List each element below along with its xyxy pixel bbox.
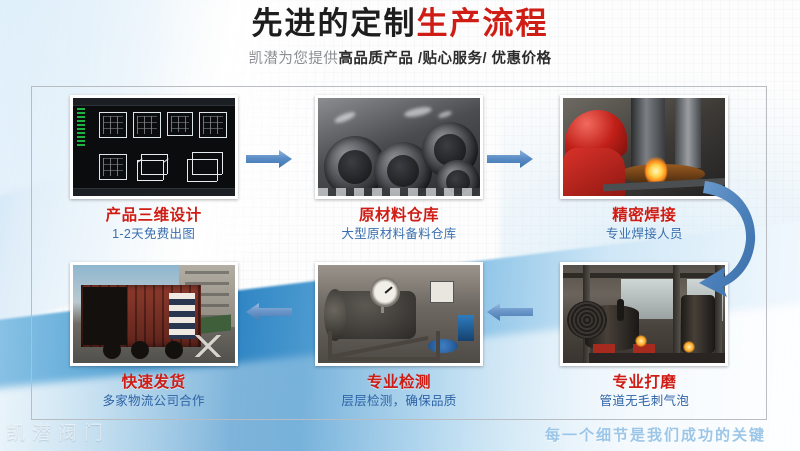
pressure-test-photo bbox=[315, 262, 483, 366]
process-step-1-caption: 产品三维设计 1-2天免费出图 bbox=[106, 206, 202, 243]
page-subtitle-strong: 高品质产品 /贴心服务/ 优惠价格 bbox=[338, 51, 551, 67]
page-subtitle: 凯潜为您提供高品质产品 /贴心服务/ 优惠价格 bbox=[0, 49, 800, 69]
arrow-step5-to-step4 bbox=[246, 303, 292, 321]
process-step-6-title: 专业打磨 bbox=[600, 373, 690, 392]
process-step-6-subtitle: 管道无毛刺气泡 bbox=[600, 393, 690, 410]
process-step-4-caption: 快速发货 多家物流公司合作 bbox=[102, 373, 204, 410]
process-step-3-subtitle: 专业焊接人员 bbox=[606, 226, 683, 243]
process-step-1-subtitle: 1-2天免费出图 bbox=[106, 226, 202, 243]
page-title: 先进的定制生产流程 bbox=[0, 4, 800, 44]
page-subtitle-prefix: 凯潜为您提供 bbox=[248, 51, 338, 67]
page-title-main: 先进的定制 bbox=[252, 6, 417, 41]
arrow-step2-to-step3 bbox=[487, 150, 533, 168]
cad-drawing-photo bbox=[70, 95, 238, 199]
process-step-5-subtitle: 层层检测，确保品质 bbox=[341, 393, 456, 410]
process-step-6-caption: 专业打磨 管道无毛刺气泡 bbox=[600, 373, 690, 410]
process-step-3-title: 精密焊接 bbox=[606, 206, 683, 225]
steel-pipes-photo bbox=[315, 95, 483, 199]
arrow-step6-to-step5 bbox=[487, 303, 533, 321]
page-title-accent: 生产流程 bbox=[417, 6, 549, 41]
watermark-logo: 凯潜阀门 bbox=[6, 418, 110, 445]
process-step-4[interactable]: 快速发货 多家物流公司合作 bbox=[31, 253, 276, 420]
arrow-step3-to-step6 bbox=[697, 175, 763, 305]
process-step-2[interactable]: 原材料仓库 大型原材料备料仓库 bbox=[276, 86, 521, 253]
header: 先进的定制生产流程 凯潜为您提供高品质产品 /贴心服务/ 优惠价格 bbox=[0, 4, 800, 69]
process-step-2-caption: 原材料仓库 大型原材料备料仓库 bbox=[341, 206, 456, 243]
process-step-3-caption: 精密焊接 专业焊接人员 bbox=[606, 206, 683, 243]
process-step-2-subtitle: 大型原材料备料仓库 bbox=[341, 226, 456, 243]
slide-canvas: 先进的定制生产流程 凯潜为您提供高品质产品 /贴心服务/ 优惠价格 bbox=[0, 0, 800, 451]
arrow-step1-to-step2 bbox=[246, 150, 292, 168]
process-step-4-subtitle: 多家物流公司合作 bbox=[102, 393, 204, 410]
shipping-truck-photo bbox=[70, 262, 238, 366]
process-step-4-title: 快速发货 bbox=[102, 373, 204, 392]
process-step-5-title: 专业检测 bbox=[341, 373, 456, 392]
footer-slogan: 每一个细节是我们成功的关键 bbox=[545, 424, 766, 445]
process-step-grid: 产品三维设计 1-2天免费出图 原材料仓库 大型原材 bbox=[31, 86, 767, 420]
process-step-5-caption: 专业检测 层层检测，确保品质 bbox=[341, 373, 456, 410]
process-step-5[interactable]: 专业检测 层层检测，确保品质 bbox=[276, 253, 521, 420]
process-step-1[interactable]: 产品三维设计 1-2天免费出图 bbox=[31, 86, 276, 253]
process-step-1-title: 产品三维设计 bbox=[106, 206, 202, 225]
process-step-2-title: 原材料仓库 bbox=[341, 206, 456, 225]
